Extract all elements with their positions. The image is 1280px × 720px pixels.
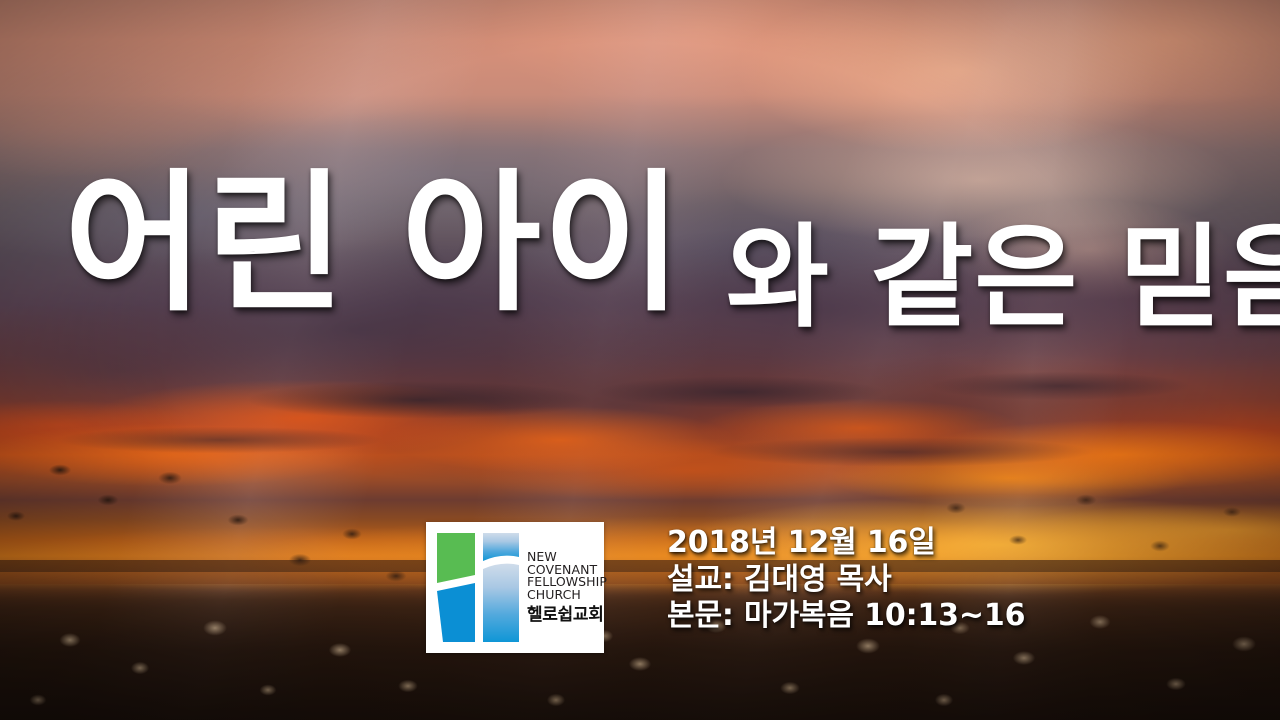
- service-scripture: 본문: 마가복음 10:13~16: [667, 598, 1025, 635]
- vignette-overlay: [0, 0, 1280, 720]
- service-preacher: 설교: 김대영 목사: [667, 562, 1025, 599]
- logo-line-church: CHURCH: [527, 589, 607, 602]
- church-logo: NEW COVENANT FELLOWSHIP CHURCH 헬로쉽교회: [426, 522, 604, 653]
- service-info: 2018년 12월 16일 설교: 김대영 목사 본문: 마가복음 10:13~…: [667, 525, 1025, 635]
- service-date: 2018년 12월 16일: [667, 525, 1025, 562]
- sermon-title-slide: 어린 아이 와 같은 믿음 NEW COVENANT: [0, 0, 1280, 720]
- logo-cross-mark: [435, 531, 521, 644]
- logo-wordmark: NEW COVENANT FELLOWSHIP CHURCH 헬로쉽교회: [527, 551, 607, 624]
- logo-korean-name: 헬로쉽교회: [527, 607, 607, 624]
